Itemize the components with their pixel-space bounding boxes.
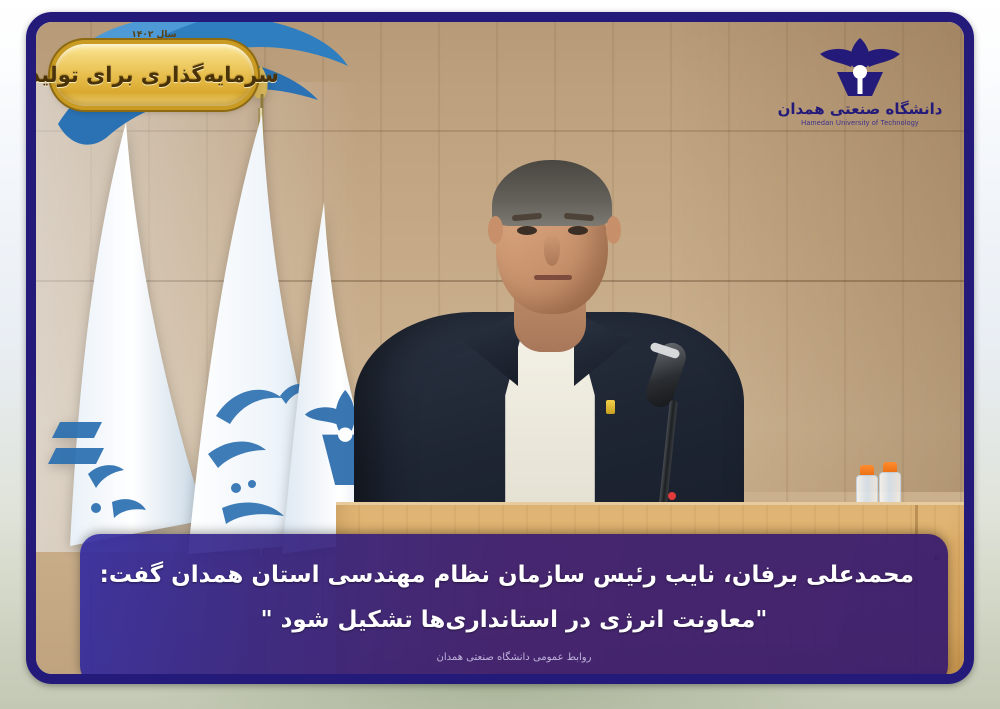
photo-frame: سال ۱۴۰۲ سرمایه‌گذاری برای تولید دانشگاه… — [26, 12, 974, 684]
mic-led-icon — [668, 492, 676, 500]
mouth — [534, 275, 572, 280]
university-name-fa: دانشگاه صنعتی همدان — [774, 100, 946, 118]
ear-right — [606, 216, 621, 244]
eye-left — [517, 226, 537, 235]
caption-band: محمدعلی برفان، نایب رئیس سازمان نظام مهن… — [80, 534, 948, 684]
bottle-body — [879, 472, 901, 506]
badge-year-label: سال ۱۴۰۲ — [131, 30, 176, 40]
university-name-en: Hamedan University of Technology — [774, 120, 946, 127]
nose — [544, 234, 560, 266]
badge-slogan-label: سرمایه‌گذاری برای تولید — [36, 63, 279, 87]
caption-line-2: "معاونت انرژی در استانداری‌ها تشکیل شود … — [114, 605, 914, 636]
caption-credit: روابط عمومی دانشگاه صنعتی همدان — [114, 652, 914, 663]
slogan-badge: سال ۱۴۰۲ سرمایه‌گذاری برای تولید — [54, 44, 254, 106]
banner-page: سال ۱۴۰۲ سرمایه‌گذاری برای تولید دانشگاه… — [0, 0, 1000, 709]
ear-left — [488, 216, 503, 244]
caption-line-1: محمدعلی برفان، نایب رئیس سازمان نظام مهن… — [114, 560, 914, 591]
hair — [492, 160, 612, 226]
water-bottle — [879, 462, 901, 506]
speaker-figure — [336, 142, 756, 562]
eye-right — [568, 226, 588, 235]
lapel-pin-icon — [606, 400, 615, 414]
hut-emblem-icon — [817, 36, 903, 98]
university-logo: دانشگاه صنعتی همدان Hamedan University o… — [774, 36, 946, 156]
